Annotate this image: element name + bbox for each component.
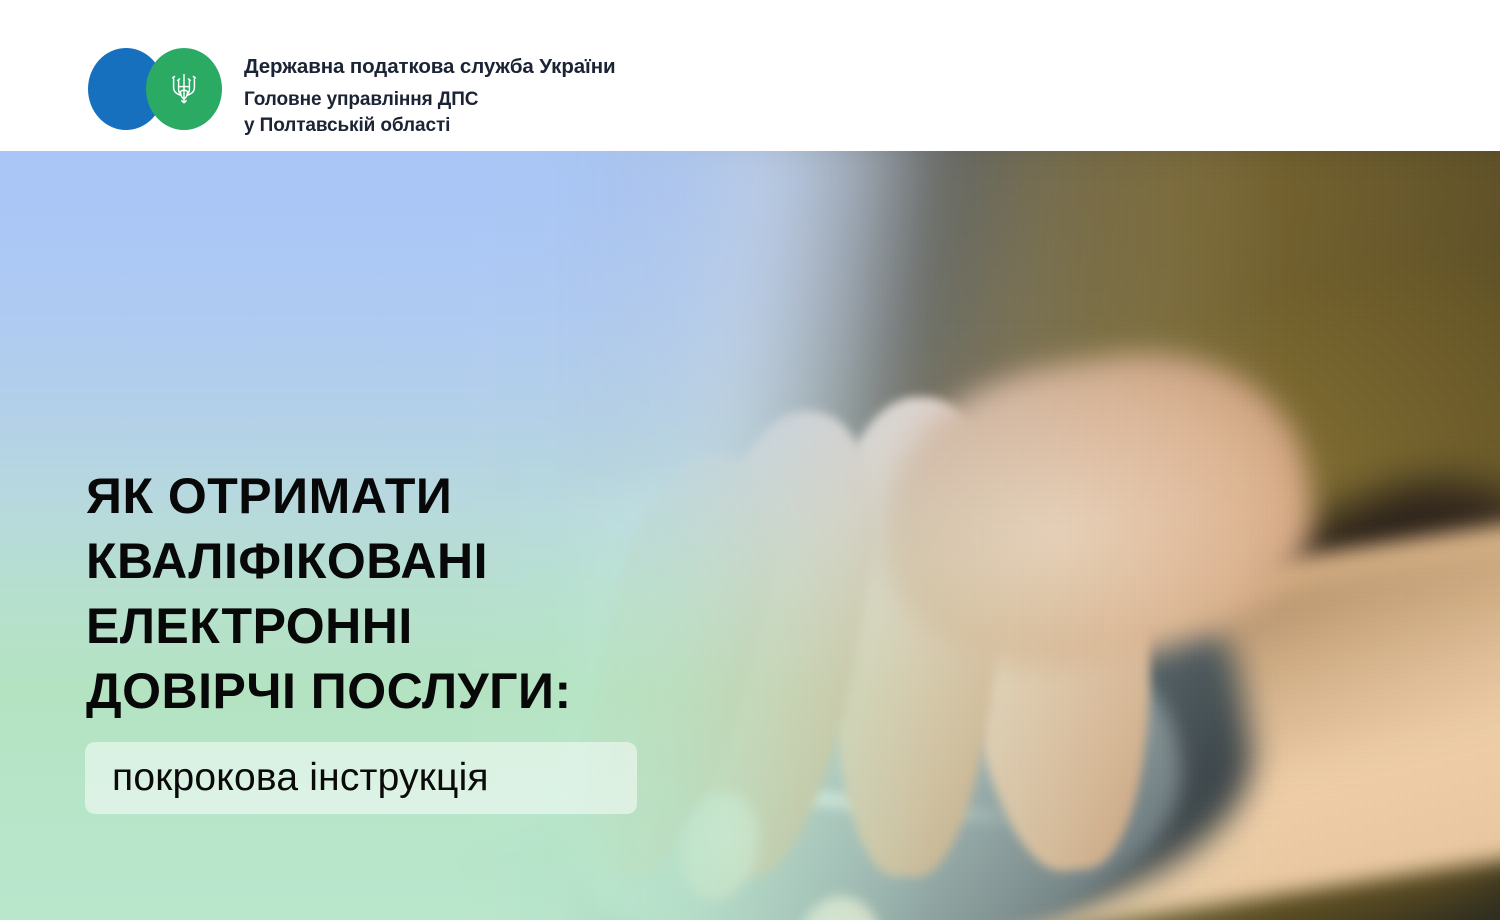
page-title: ЯК ОТРИМАТИ КВАЛІФІКОВАНІ ЕЛЕКТРОННІ ДОВ… [86,464,572,724]
ukraine-trident-icon [170,70,198,108]
subtitle-badge: покрокова інструкція [85,742,637,814]
organization-name: Державна податкова служба України Головн… [244,48,616,139]
org-line-3: у Полтавській області [244,113,616,139]
headline-line-4: ДОВІРЧІ ПОСЛУГИ: [86,659,572,724]
headline-line-1: ЯК ОТРИМАТИ [86,464,572,529]
headline-line-2: КВАЛІФІКОВАНІ [86,529,572,594]
poster-page: Державна податкова служба України Головн… [0,0,1500,920]
logo-marks [88,48,220,130]
headline-line-3: ЕЛЕКТРОННІ [86,594,572,659]
green-circle-icon [146,48,222,130]
subtitle-badge-label: покрокова інструкція [112,756,489,800]
org-line-1: Державна податкова служба України [244,52,616,82]
org-line-2: Головне управління ДПС [244,87,616,113]
organization-logo[interactable]: Державна податкова служба України Головн… [88,48,616,139]
site-header: Державна податкова служба України Головн… [0,0,1500,151]
hero-banner: ЯК ОТРИМАТИ КВАЛІФІКОВАНІ ЕЛЕКТРОННІ ДОВ… [0,151,1500,920]
